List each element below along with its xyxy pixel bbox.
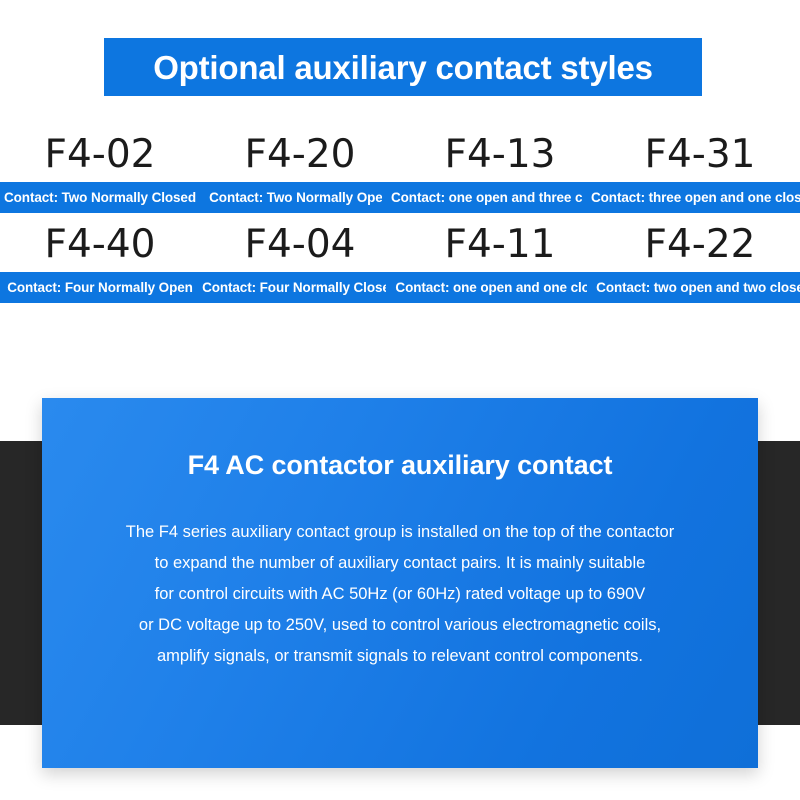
contact-style-card-f4-11[interactable]: F4-11 Contact: one open and one close: [400, 216, 600, 303]
contact-style-code: F4-31: [645, 126, 756, 182]
info-panel-body-line: to expand the number of auxiliary contac…: [60, 548, 740, 579]
contact-style-code: F4-22: [645, 216, 756, 272]
contact-style-code: F4-13: [445, 126, 556, 182]
info-panel-title: F4 AC contactor auxiliary contact: [188, 452, 613, 479]
contact-styles-row: F4-02 Contact: Two Normally Closed F4-20…: [0, 126, 800, 213]
contact-style-card-f4-20[interactable]: F4-20 Contact: Two Normally Open: [200, 126, 400, 213]
contact-style-card-f4-31[interactable]: F4-31 Contact: three open and one close: [600, 126, 800, 213]
header-banner: Optional auxiliary contact styles: [104, 38, 702, 96]
contact-style-code: F4-40: [45, 216, 156, 272]
page-title: Optional auxiliary contact styles: [153, 51, 653, 84]
contact-style-card-f4-02[interactable]: F4-02 Contact: Two Normally Closed: [0, 126, 200, 213]
contact-style-code: F4-20: [245, 126, 356, 182]
contact-style-badge: Contact: two open and two close: [587, 272, 800, 303]
contact-style-code: F4-11: [445, 216, 556, 272]
contact-style-badge: Contact: Two Normally Open: [200, 182, 400, 213]
contact-style-badge: Contact: Two Normally Closed: [0, 182, 205, 213]
contact-style-card-f4-40[interactable]: F4-40 Contact: Four Normally Open: [0, 216, 200, 303]
contact-styles-row: F4-40 Contact: Four Normally Open F4-04 …: [0, 216, 800, 303]
info-panel: F4 AC contactor auxiliary contact The F4…: [42, 398, 758, 768]
contact-style-card-f4-04[interactable]: F4-04 Contact: Four Normally Closed: [200, 216, 400, 303]
bottom-section: F4 AC contactor auxiliary contact The F4…: [0, 380, 800, 800]
contact-style-badge: Contact: Four Normally Open: [0, 272, 202, 303]
contact-style-badge: Contact: three open and one close: [582, 182, 800, 213]
info-panel-body: The F4 series auxiliary contact group is…: [60, 517, 740, 672]
contact-style-card-f4-13[interactable]: F4-13 Contact: one open and three close: [400, 126, 600, 213]
contact-style-card-f4-22[interactable]: F4-22 Contact: two open and two close: [600, 216, 800, 303]
contact-style-code: F4-04: [245, 216, 356, 272]
contact-style-badge: Contact: one open and one close: [386, 272, 613, 303]
info-panel-body-line: amplify signals, or transmit signals to …: [60, 641, 740, 672]
info-panel-body-line: or DC voltage up to 250V, used to contro…: [60, 610, 740, 641]
contact-style-code: F4-02: [45, 126, 156, 182]
info-panel-body-line: The F4 series auxiliary contact group is…: [60, 517, 740, 548]
info-panel-body-line: for control circuits with AC 50Hz (or 60…: [60, 579, 740, 610]
contact-styles-grid: F4-02 Contact: Two Normally Closed F4-20…: [0, 126, 800, 303]
contact-style-badge: Contact: Four Normally Closed: [193, 272, 407, 303]
